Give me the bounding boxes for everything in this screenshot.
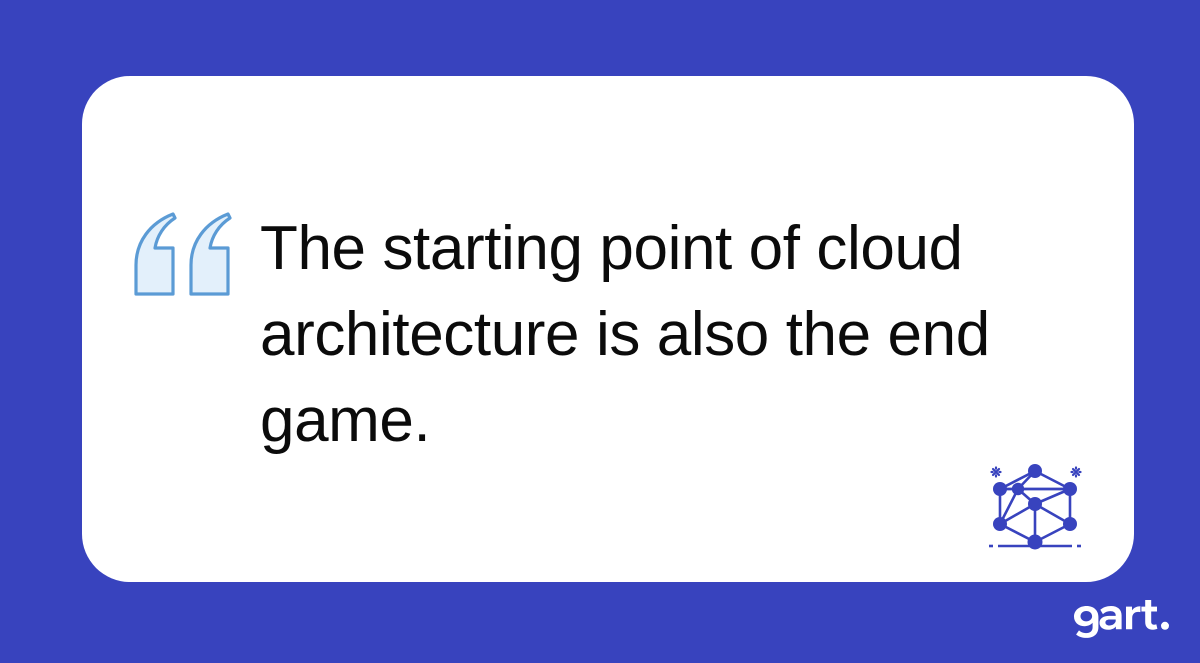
slide-canvas: The starting point of cloud architecture… <box>0 0 1200 663</box>
brand-logo-gart[interactable] <box>1072 598 1172 638</box>
quote-text: The starting point of cloud architecture… <box>260 206 1060 464</box>
quote-card: The starting point of cloud architecture… <box>82 76 1134 582</box>
quotation-mark-icon <box>130 211 242 297</box>
network-graph-icon <box>980 456 1090 556</box>
